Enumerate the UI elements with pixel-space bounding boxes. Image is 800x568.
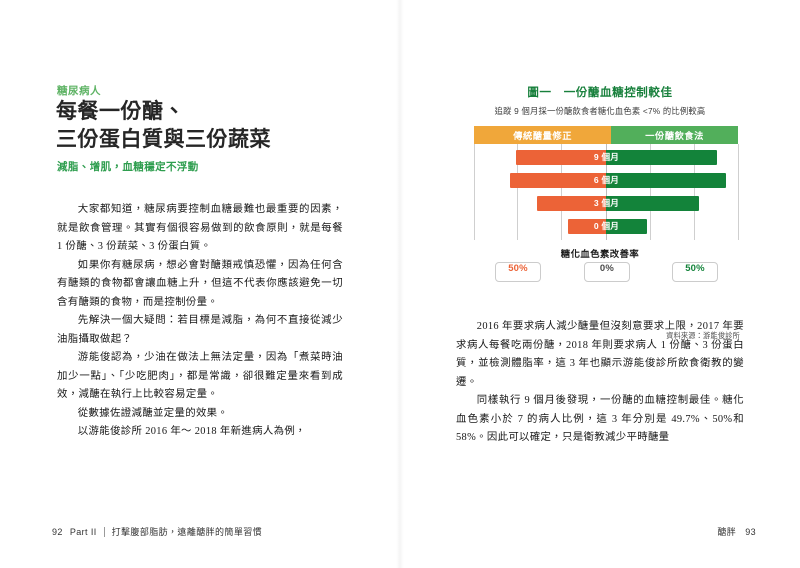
bar-row-label: 3 個月 — [594, 196, 620, 211]
chart-title: 圖一 一份醣血糖控制較佳 — [426, 84, 774, 100]
bar-traditional — [510, 173, 607, 188]
bar-row: 3 個月 — [452, 196, 748, 211]
bar-row-label: 6 個月 — [594, 173, 620, 188]
bar-row: 9 個月 — [452, 150, 748, 165]
page-number-right: 93 — [745, 527, 756, 537]
paragraph: 大家都知道，糖尿病要控制血糖最難也最重要的因素，就是飲食管理。其實有個很容易做到… — [57, 201, 343, 257]
bar-row-value: 3 個月 — [594, 198, 619, 208]
figure-chart: 圖一 一份醣血糖控制較佳 追蹤 9 個月採一份醣飲食者糖化血色素 <7% 的比例… — [426, 84, 774, 276]
paragraph: 游能俊認為，少油在做法上無法定量，因為「煮菜時油加少一點」、「少吃肥肉」，都是常… — [57, 349, 343, 405]
page-title: 每餐一份醣、 三份蛋白質與三份蔬菜 — [56, 98, 376, 154]
page-number-left: 92 — [52, 527, 63, 537]
right-page-footer: 醣胖 93 — [717, 525, 756, 538]
x-tick-left: 50% — [495, 262, 541, 282]
right-body-text: 2016 年要求病人減少醣量但沒刻意要求上限，2017 年要求病人每餐吃兩份醣，… — [456, 318, 744, 448]
chart-x-axis-ticks: 50% 0% 50% — [452, 262, 748, 281]
headline-line-1: 每餐一份醣、 — [56, 99, 185, 123]
left-body-text: 大家都知道，糖尿病要控制血糖最難也最重要的因素，就是飲食管理。其實有個很容易做到… — [57, 201, 343, 442]
chart-legend: 傳統醣量修正 一份醣飲食法 — [474, 126, 738, 144]
chart-plot-area: 傳統醣量修正 一份醣飲食法 — [452, 126, 748, 276]
bar-row-value: 6 個月 — [594, 175, 619, 185]
paragraph: 同樣執行 9 個月後發現，一份醣的血糖控制最佳。糖化血色素小於 7 的病人比例，… — [456, 392, 744, 448]
legend-item-one-portion: 一份醣飲食法 — [611, 126, 738, 144]
bar-one-portion — [606, 150, 717, 165]
chart-bars: 9 個月 6 個月 3 個月 0 — [452, 144, 748, 240]
chart-subtitle: 追蹤 9 個月採一份醣飲食者糖化血色素 <7% 的比例較高 — [426, 105, 774, 117]
bar-row: 6 個月 — [452, 173, 748, 188]
bar-row-label: 9 個月 — [594, 150, 620, 165]
footer-chapter-label: 打擊腹部脂肪，遠離醣胖的簡單習慣 — [112, 525, 262, 538]
footer-divider — [104, 527, 105, 537]
bar-row-label: 0 個月 — [594, 219, 620, 234]
x-tick-center-value: 0% — [600, 263, 614, 274]
left-page-footer: 92 Part II 打擊腹部脂肪，遠離醣胖的簡單習慣 — [52, 525, 262, 538]
headline-line-2: 三份蛋白質與三份蔬菜 — [56, 126, 376, 154]
bar-one-portion — [606, 173, 726, 188]
legend-item-traditional: 傳統醣量修正 — [474, 126, 611, 144]
chart-axis-title: 糖化血色素改善率 — [452, 246, 748, 260]
bar-row-value: 0 個月 — [594, 221, 619, 231]
right-page: 圖一 一份醣血糖控制較佳 追蹤 9 個月採一份醣飲食者糖化血色素 <7% 的比例… — [400, 0, 800, 568]
left-page: 糖尿病人 每餐一份醣、 三份蛋白質與三份蔬菜 減脂、增肌，血糖穩定不浮動 大家都… — [0, 0, 400, 568]
paragraph: 以游能俊診所 2016 年～ 2018 年新進病人為例， — [57, 423, 343, 442]
bar-row: 0 個月 — [452, 219, 748, 234]
paragraph: 2016 年要求病人減少醣量但沒刻意要求上限，2017 年要求病人每餐吃兩份醣，… — [456, 318, 744, 392]
paragraph: 如果你有糖尿病，想必會對醣類戒慎恐懼，因為任何含有醣類的食物都會讓血糖上升，但這… — [57, 257, 343, 313]
x-tick-right-value: 50% — [685, 263, 705, 274]
article-eyebrow: 糖尿病人 — [57, 83, 101, 98]
x-tick-right: 50% — [672, 262, 718, 282]
paragraph: 從數據佐證減醣並定量的效果。 — [57, 405, 343, 424]
paragraph: 先解決一個大疑問：若目標是減脂，為何不直接從減少油脂攝取做起？ — [57, 312, 343, 349]
article-subheading: 減脂、增肌，血糖穩定不浮動 — [57, 159, 199, 174]
bar-row-value: 9 個月 — [594, 152, 619, 162]
book-spread-page: 糖尿病人 每餐一份醣、 三份蛋白質與三份蔬菜 減脂、增肌，血糖穩定不浮動 大家都… — [0, 0, 800, 568]
x-tick-left-value: 50% — [508, 263, 528, 274]
footer-part-label: Part II — [70, 527, 97, 537]
x-tick-center: 0% — [584, 262, 630, 282]
footer-section-label: 醣胖 — [717, 525, 736, 538]
